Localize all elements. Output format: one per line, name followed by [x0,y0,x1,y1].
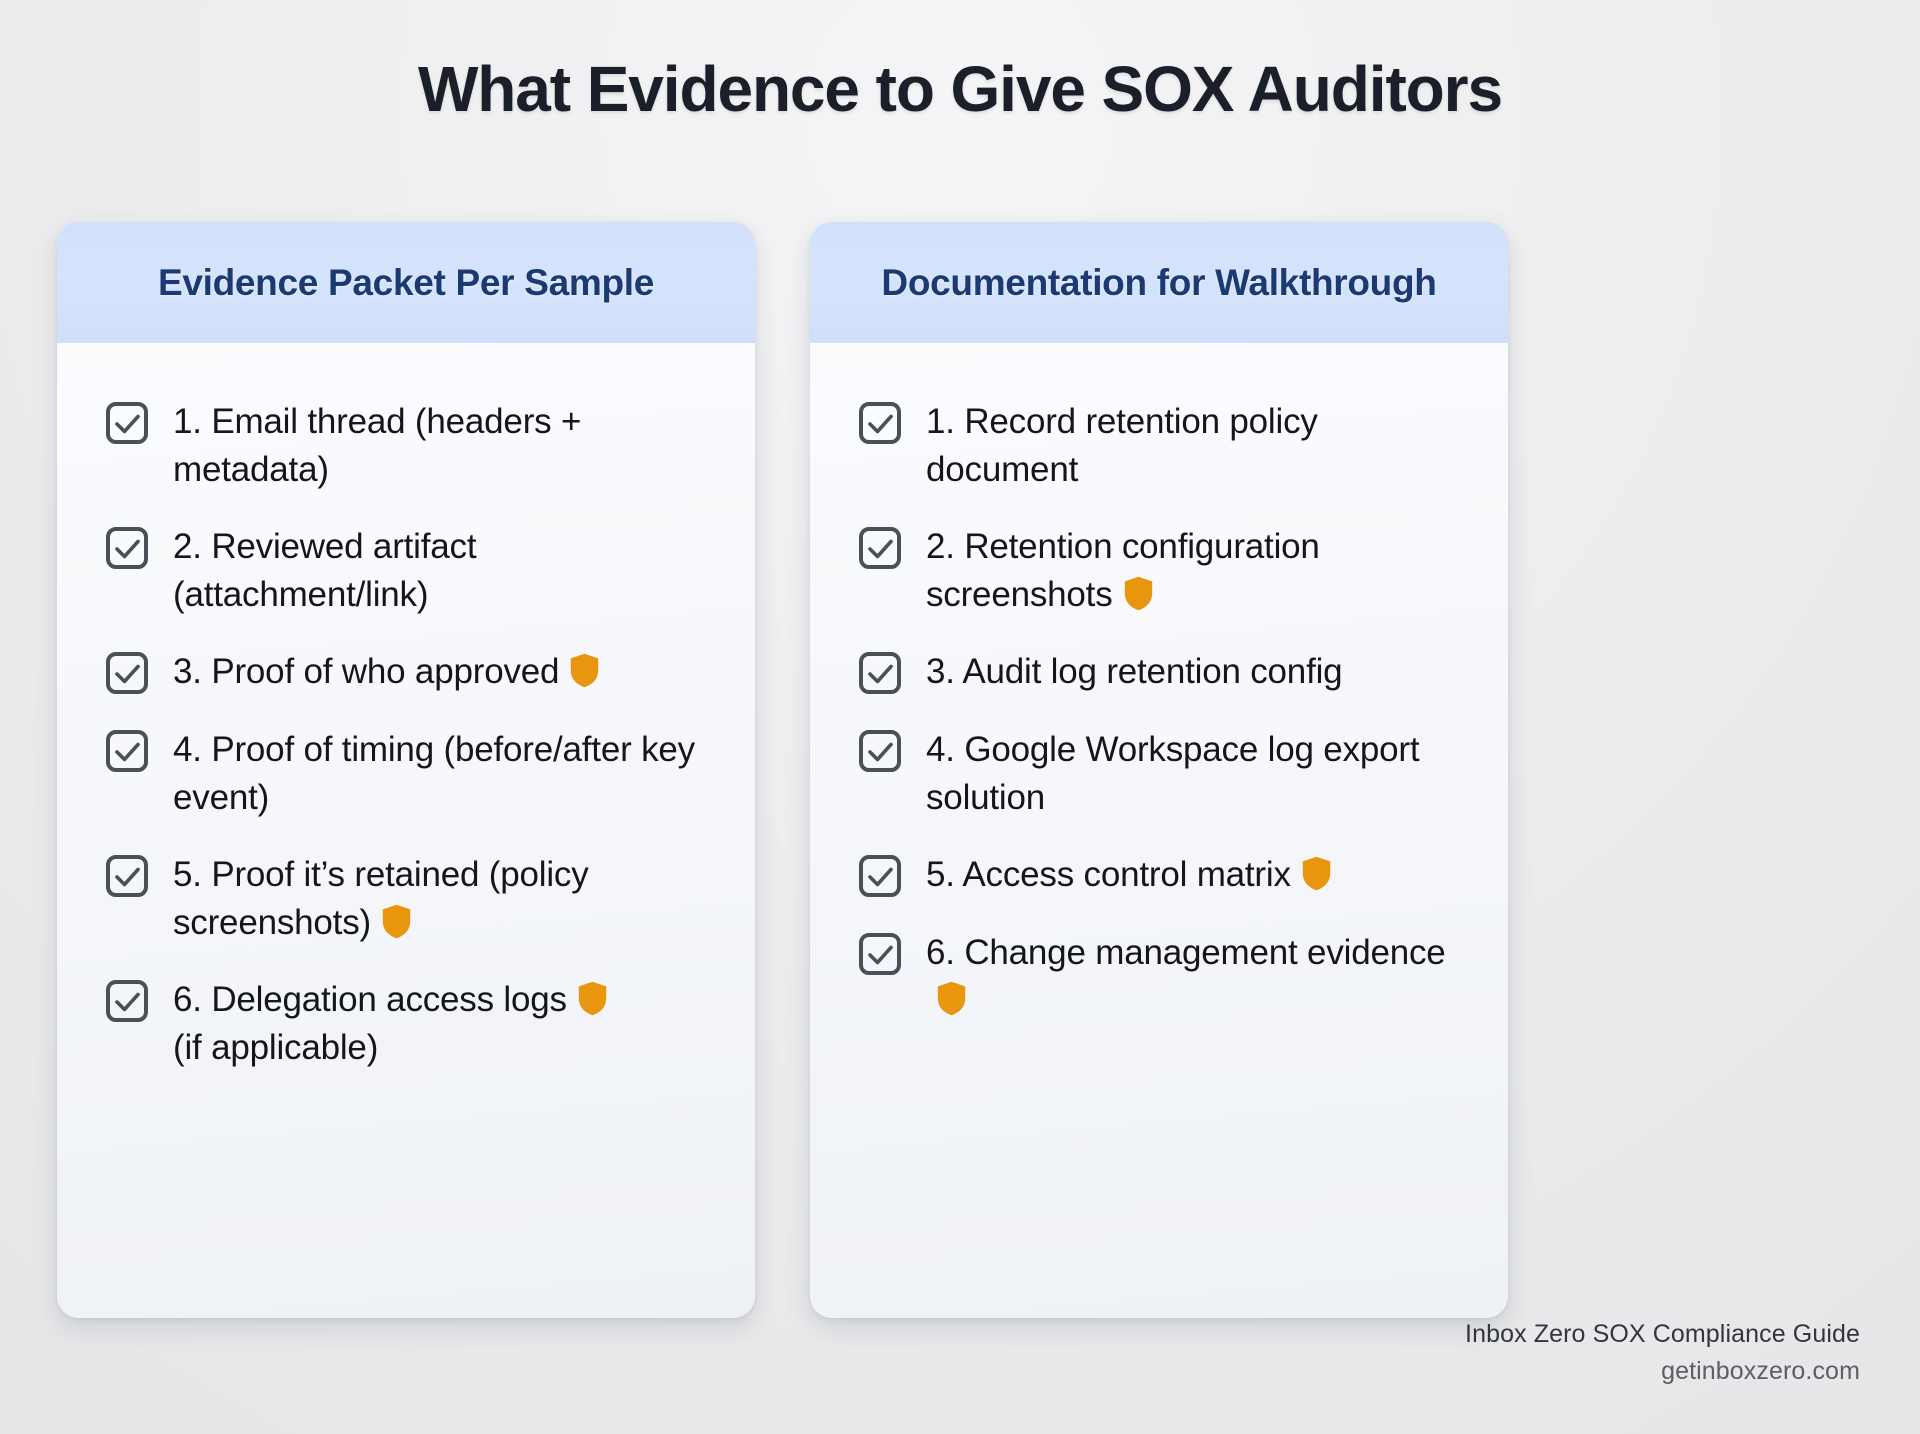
shield-icon [382,904,411,939]
list-item-label: 4. Proof of timing (before/after key eve… [173,724,721,821]
list-item-label: 1. Record retention policy document [926,396,1474,493]
checkbox-checked-icon[interactable] [858,932,902,976]
footer-guide-name: Inbox Zero SOX Compliance Guide [1465,1320,1860,1349]
list-item-label: 5. Proof it’s retained (policy screensho… [173,855,589,942]
shield-icon [1302,856,1331,891]
list-item-label-primary: 6. Delegation access logs [173,980,567,1019]
list-item[interactable]: 6. Change management evidence [858,927,1474,1024]
list-item-label-secondary: (if applicable) [173,1028,378,1067]
checkbox-checked-icon[interactable] [858,526,902,570]
list-item-label: 3. Proof of who approved [173,652,559,691]
checkbox-checked-icon[interactable] [105,526,149,570]
checkbox-checked-icon[interactable] [105,729,149,773]
checkbox-checked-icon[interactable] [105,854,149,898]
checkbox-checked-icon[interactable] [858,854,902,898]
list-item-label: 1. Email thread (headers + metadata) [173,396,721,493]
list-item[interactable]: 5. Proof it’s retained (policy screensho… [105,849,721,946]
list-item[interactable]: 1. Email thread (headers + metadata) [105,396,721,493]
shield-icon [937,981,966,1016]
card-container: Evidence Packet Per Sample 1. Email thre… [57,222,1863,1318]
list-item[interactable]: 1. Record retention policy document [858,396,1474,493]
list-item[interactable]: 4. Google Workspace log export solution [858,724,1474,821]
card-body-evidence-packet: 1. Email thread (headers + metadata) 2. … [57,343,755,1318]
shield-icon [1124,576,1153,611]
card-header-documentation-walkthrough: Documentation for Walkthrough [810,222,1508,343]
card-evidence-packet: Evidence Packet Per Sample 1. Email thre… [57,222,755,1318]
checkbox-checked-icon[interactable] [858,401,902,445]
card-title: Evidence Packet Per Sample [158,262,654,304]
checkbox-checked-icon[interactable] [105,401,149,445]
footer: Inbox Zero SOX Compliance Guide getinbox… [1465,1320,1860,1386]
list-item[interactable]: 6. Delegation access logs(if applicable) [105,974,721,1071]
shield-icon [578,981,607,1016]
card-documentation-walkthrough: Documentation for Walkthrough 1. Record … [810,222,1508,1318]
list-item[interactable]: 3. Audit log retention config [858,646,1474,696]
list-item-label: 3. Audit log retention config [926,646,1342,696]
list-item-label: 4. Google Workspace log export solution [926,724,1474,821]
list-item[interactable]: 5. Access control matrix [858,849,1474,899]
list-item[interactable]: 2. Reviewed artifact (attachment/link) [105,521,721,618]
checkbox-checked-icon[interactable] [105,651,149,695]
card-title: Documentation for Walkthrough [881,262,1436,304]
page-title: What Evidence to Give SOX Auditors [0,52,1920,126]
list-item[interactable]: 3. Proof of who approved [105,646,721,696]
checkbox-checked-icon[interactable] [105,979,149,1023]
shield-icon [570,653,599,688]
checkbox-checked-icon[interactable] [858,729,902,773]
list-item-label: 5. Access control matrix [926,855,1291,894]
list-item[interactable]: 2. Retention configuration screenshots [858,521,1474,618]
checkbox-checked-icon[interactable] [858,651,902,695]
list-item-label: 2. Reviewed artifact (attachment/link) [173,521,721,618]
list-item[interactable]: 4. Proof of timing (before/after key eve… [105,724,721,821]
footer-website: getinboxzero.com [1465,1357,1860,1386]
card-body-documentation-walkthrough: 1. Record retention policy document 2. R… [810,343,1508,1318]
card-header-evidence-packet: Evidence Packet Per Sample [57,222,755,343]
list-item-label: 6. Change management evidence [926,933,1446,972]
